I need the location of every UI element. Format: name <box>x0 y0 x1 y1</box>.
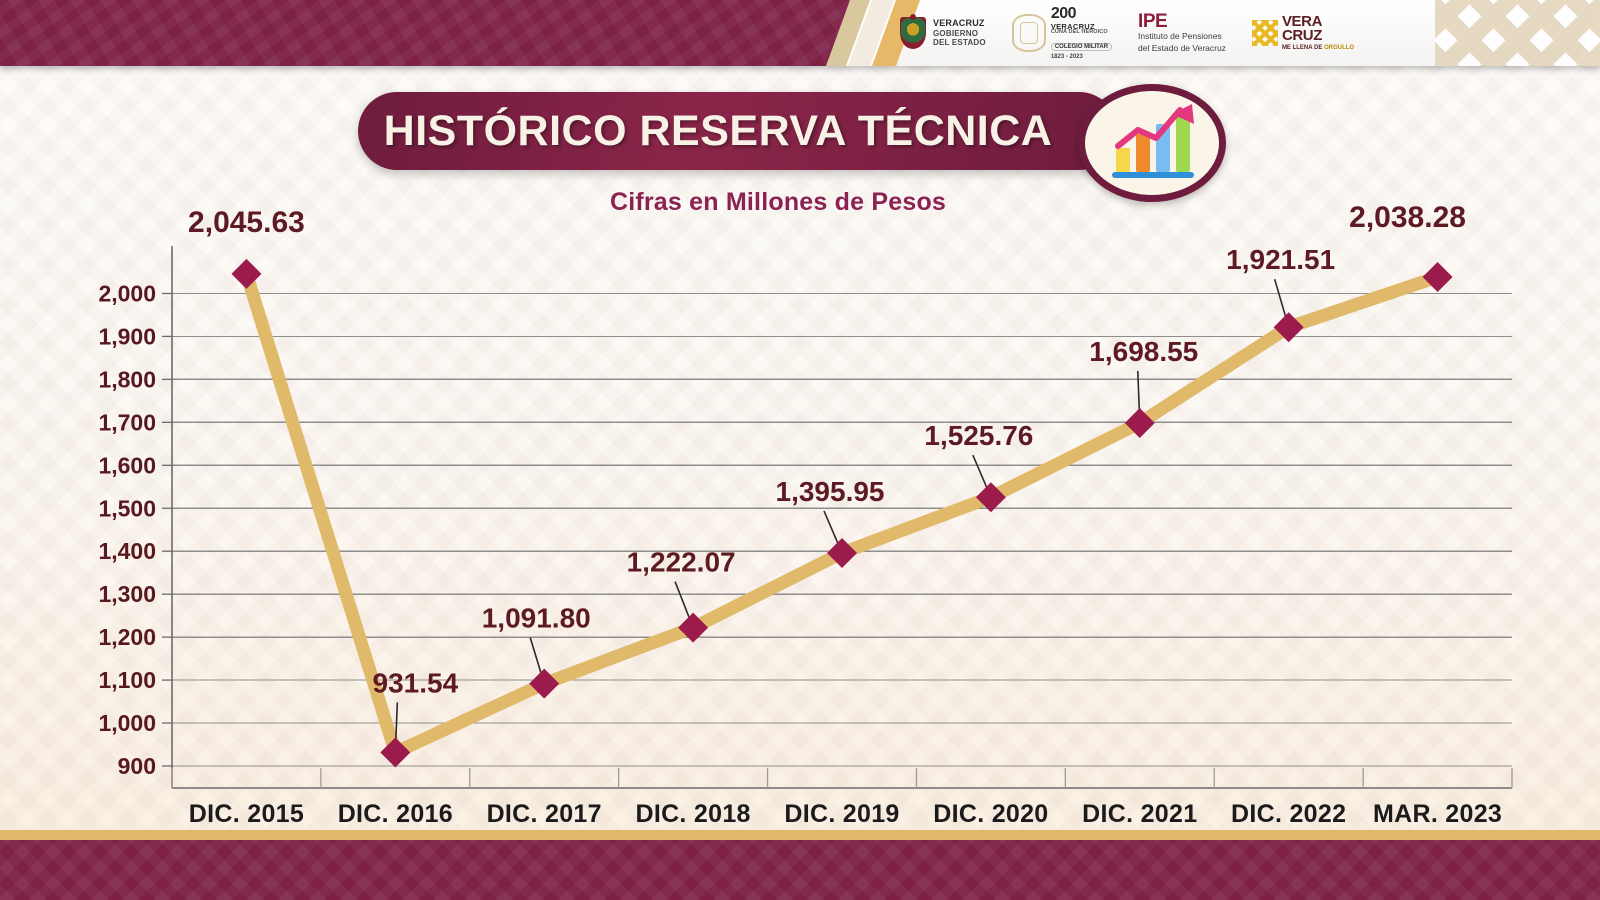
page-title: HISTÓRICO RESERVA TÉCNICA <box>384 107 1093 156</box>
data-point-label: 1,395.95 <box>776 476 885 507</box>
data-point-label: 1,091.80 <box>482 603 591 634</box>
title-pill: HISTÓRICO RESERVA TÉCNICA <box>358 92 1118 170</box>
y-axis-tick-label: 1,400 <box>98 538 156 564</box>
y-axis-tick-label: 1,800 <box>98 366 156 392</box>
data-point-marker <box>231 259 261 289</box>
logo-bicentenario: 200 VERACRUZ CUNA DEL HEROICO COLEGIO MI… <box>1012 6 1112 61</box>
y-axis-tick-label: 1,900 <box>98 323 156 349</box>
x-axis-category-label: DIC. 2021 <box>1082 800 1197 828</box>
bicentenario-colegio: COLEGIO MILITAR <box>1051 43 1112 51</box>
logo-line-veracruz: VERACRUZ <box>933 18 986 29</box>
x-axis-category-label: MAR. 2023 <box>1373 800 1502 828</box>
top-header-bar: VERACRUZ GOBIERNO DEL ESTADO 200 VERACRU… <box>0 0 1600 66</box>
logo-veracruz-gobierno: VERACRUZ GOBIERNO DEL ESTADO <box>900 17 986 49</box>
header-maroon-panel <box>0 0 860 66</box>
data-point-label: 1,698.55 <box>1089 336 1198 367</box>
y-axis-tick-label: 1,300 <box>98 581 156 607</box>
ipe-line2: del Estado de Veracruz <box>1138 43 1226 54</box>
logo-line-delestado: DEL ESTADO <box>933 38 986 48</box>
logo-veracruz-orgullo: VERA CRUZ ME LLENA DE ORGULLO <box>1252 15 1354 51</box>
veracruz-orgullo-line2: CRUZ <box>1282 29 1354 43</box>
y-axis-tick-label: 1,600 <box>98 452 156 478</box>
y-axis-tick-label: 1,700 <box>98 409 156 435</box>
y-axis-tick-label: 900 <box>118 753 156 779</box>
y-axis-tick-label: 1,200 <box>98 624 156 650</box>
bicentenario-number: 200 <box>1051 6 1112 23</box>
bottom-gold-stripe <box>0 830 1600 840</box>
bicentenario-frame-icon <box>1012 14 1046 52</box>
y-axis-tick-label: 1,500 <box>98 495 156 521</box>
chart-subtitle: Cifras en Millones de Pesos <box>0 188 1556 217</box>
x-axis-category-label: DIC. 2017 <box>487 800 602 828</box>
tagline-pre: ME LLENA DE <box>1282 45 1324 51</box>
bicentenario-years: 1823 - 2023 <box>1051 54 1112 60</box>
data-point-marker <box>1423 262 1453 292</box>
x-axis-category-label: DIC. 2019 <box>784 800 899 828</box>
logo-line-gobierno: GOBIERNO <box>933 29 986 39</box>
ipe-line1: Instituto de Pensiones <box>1138 31 1226 42</box>
data-point-label: 1,921.51 <box>1226 244 1335 275</box>
logo-veracruz-gobierno-text: VERACRUZ GOBIERNO DEL ESTADO <box>933 18 986 48</box>
bottom-maroon-band <box>0 840 1600 900</box>
data-point-label: 1,222.07 <box>627 547 736 578</box>
x-axis-category-label: DIC. 2020 <box>933 800 1048 828</box>
x-axis-category-label: DIC. 2016 <box>338 800 453 828</box>
bar-chart-growth-icon <box>1104 102 1200 184</box>
ipe-acronym: IPE <box>1138 12 1226 31</box>
veracruz-orgullo-text: VERA CRUZ ME LLENA DE ORGULLO <box>1282 15 1354 51</box>
data-point-label: 1,525.76 <box>924 420 1033 451</box>
x-axis-category-label: DIC. 2015 <box>189 800 304 828</box>
y-axis-tick-label: 1,100 <box>98 667 156 693</box>
bicentenario-text: 200 VERACRUZ CUNA DEL HEROICO COLEGIO MI… <box>1051 6 1112 61</box>
bicentenario-cuna: CUNA DEL HEROICO <box>1051 30 1112 36</box>
veracruz-coat-of-arms-icon <box>900 17 926 49</box>
y-axis-tick-label: 1,000 <box>98 710 156 736</box>
tagline-bold: ORGULLO <box>1324 45 1354 51</box>
logo-ipe: IPE Instituto de Pensiones del Estado de… <box>1138 12 1226 53</box>
veracruz-dots-icon <box>1252 20 1278 46</box>
x-axis-category-label: DIC. 2018 <box>635 800 750 828</box>
bottom-bar <box>0 830 1600 900</box>
title-badge <box>1078 84 1226 202</box>
x-axis-category-label: DIC. 2022 <box>1231 800 1346 828</box>
header-logo-group: VERACRUZ GOBIERNO DEL ESTADO 200 VERACRU… <box>900 0 1460 66</box>
y-axis-tick-label: 2,000 <box>98 280 156 306</box>
data-point-label: 931.54 <box>373 667 459 698</box>
veracruz-orgullo-tagline: ME LLENA DE ORGULLO <box>1282 45 1354 51</box>
